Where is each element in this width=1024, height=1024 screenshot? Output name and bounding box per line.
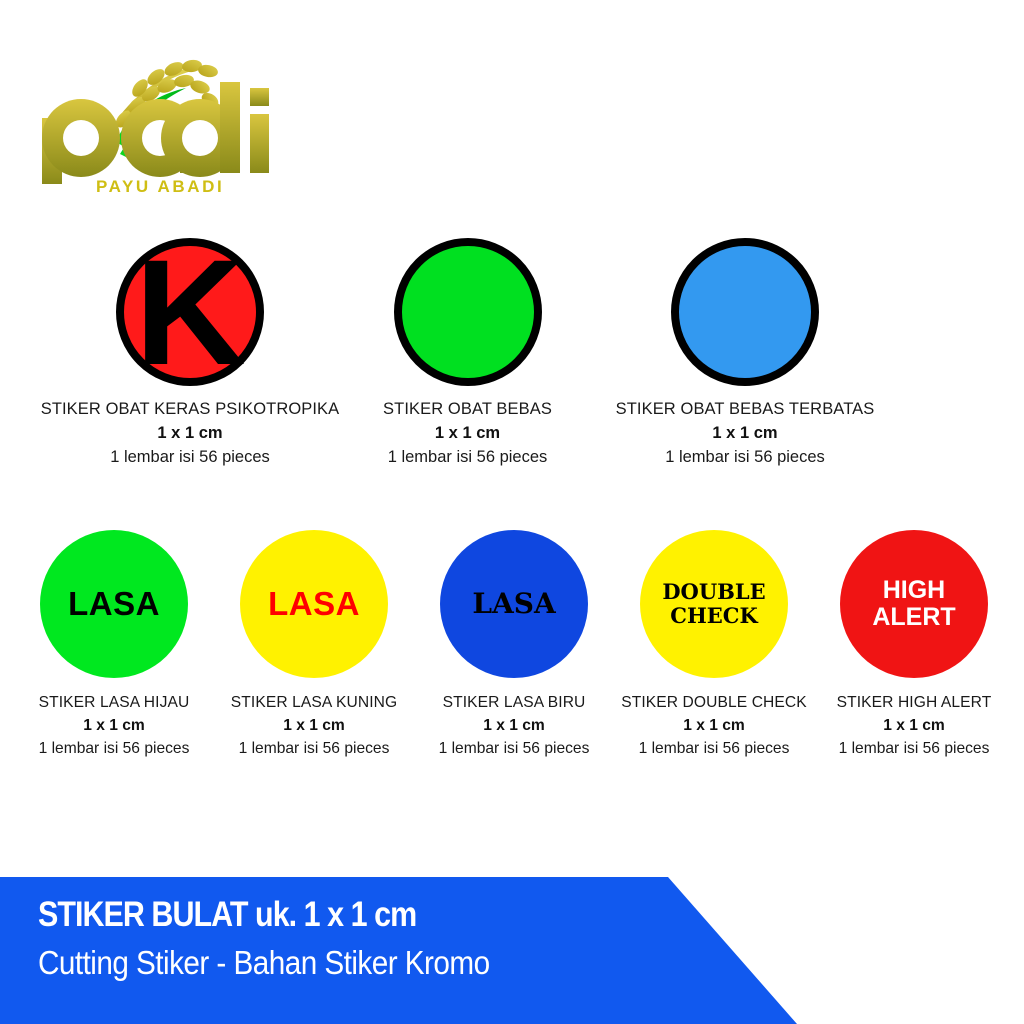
- sticker-disc-lasa-hijau[interactable]: LASA: [40, 530, 188, 678]
- sticker-size: 1 x 1 cm: [616, 424, 875, 443]
- banner-text-block: STIKER BULAT uk. 1 x 1 cm Cutting Stiker…: [38, 895, 540, 982]
- sticker-label: LASA: [268, 587, 360, 621]
- sticker-label-line2: CHECK: [670, 603, 758, 628]
- sticker-card-lasa-hijau[interactable]: LASA STIKER LASA HIJAU 1 x 1 cm 1 lembar…: [14, 530, 214, 758]
- sticker-card-obat-bebas[interactable]: STIKER OBAT BEBAS 1 x 1 cm 1 lembar isi …: [340, 238, 595, 467]
- sticker-size: 1 x 1 cm: [39, 717, 190, 735]
- sticker-disc-lasa-biru[interactable]: LASA: [440, 530, 588, 678]
- sticker-quantity: 1 lembar isi 56 pieces: [231, 740, 397, 758]
- sticker-row-2: LASA STIKER LASA HIJAU 1 x 1 cm 1 lembar…: [14, 530, 1014, 758]
- sticker-quantity: 1 lembar isi 56 pieces: [621, 740, 807, 758]
- sticker-size: 1 x 1 cm: [837, 717, 992, 735]
- brand-tagline: PAYU ABADI: [96, 177, 224, 196]
- banner-subtitle: Cutting Stiker - Bahan Stiker Kromo: [38, 944, 490, 982]
- bottom-banner: STIKER BULAT uk. 1 x 1 cm Cutting Stiker…: [0, 877, 800, 1024]
- sticker-name: STIKER HIGH ALERT: [837, 694, 992, 712]
- sticker-card-obat-bebas-terbatas[interactable]: STIKER OBAT BEBAS TERBATAS 1 x 1 cm 1 le…: [595, 238, 895, 467]
- sticker-catalog-page: { "brand": { "name": "padi", "tagline": …: [0, 0, 1024, 1024]
- sticker-name: STIKER OBAT BEBAS: [383, 400, 552, 419]
- sticker-name: STIKER DOUBLE CHECK: [621, 694, 807, 712]
- sticker-caption: STIKER LASA HIJAU 1 x 1 cm 1 lembar isi …: [39, 694, 190, 758]
- sticker-card-lasa-kuning[interactable]: LASA STIKER LASA KUNING 1 x 1 cm 1 lemba…: [214, 530, 414, 758]
- sticker-caption: STIKER LASA KUNING 1 x 1 cm 1 lembar isi…: [231, 694, 397, 758]
- sticker-quantity: 1 lembar isi 56 pieces: [439, 740, 590, 758]
- sticker-name: STIKER LASA KUNING: [231, 694, 397, 712]
- sticker-disc-lasa-kuning[interactable]: LASA: [240, 530, 388, 678]
- sticker-name: STIKER LASA BIRU: [439, 694, 590, 712]
- sticker-caption: STIKER HIGH ALERT 1 x 1 cm 1 lembar isi …: [837, 694, 992, 758]
- sticker-quantity: 1 lembar isi 56 pieces: [616, 448, 875, 467]
- sticker-label: HIGH ALERT: [872, 577, 955, 632]
- sticker-size: 1 x 1 cm: [231, 717, 397, 735]
- sticker-label: DOUBLE CHECK: [662, 580, 765, 627]
- sticker-name: STIKER OBAT KERAS PSIKOTROPIKA: [41, 400, 340, 419]
- sticker-row-1: K STIKER OBAT KERAS PSIKOTROPIKA 1 x 1 c…: [40, 238, 1000, 467]
- sticker-size: 1 x 1 cm: [41, 424, 340, 443]
- wheat-ear-icon: PAYU ABADI: [28, 42, 278, 202]
- sticker-name: STIKER OBAT BEBAS TERBATAS: [616, 400, 875, 419]
- sticker-disc-high-alert[interactable]: HIGH ALERT: [840, 530, 988, 678]
- sticker-card-lasa-biru[interactable]: LASA STIKER LASA BIRU 1 x 1 cm 1 lembar …: [414, 530, 614, 758]
- sticker-card-double-check[interactable]: DOUBLE CHECK STIKER DOUBLE CHECK 1 x 1 c…: [614, 530, 814, 758]
- sticker-size: 1 x 1 cm: [621, 717, 807, 735]
- sticker-glyph-k: K: [135, 237, 245, 387]
- sticker-disc-double-check[interactable]: DOUBLE CHECK: [640, 530, 788, 678]
- sticker-quantity: 1 lembar isi 56 pieces: [837, 740, 992, 758]
- sticker-label-line2: ALERT: [872, 603, 955, 631]
- sticker-quantity: 1 lembar isi 56 pieces: [41, 448, 340, 467]
- sticker-disc-obat-keras-psikotropika[interactable]: K: [116, 238, 264, 386]
- sticker-label: LASA: [68, 587, 160, 621]
- sticker-size: 1 x 1 cm: [439, 717, 590, 735]
- sticker-size: 1 x 1 cm: [383, 424, 552, 443]
- banner-title: STIKER BULAT uk. 1 x 1 cm: [38, 895, 474, 935]
- sticker-label: LASA: [472, 589, 555, 618]
- sticker-caption: STIKER OBAT KERAS PSIKOTROPIKA 1 x 1 cm …: [41, 400, 340, 467]
- sticker-disc-obat-bebas-terbatas[interactable]: [671, 238, 819, 386]
- sticker-caption: STIKER DOUBLE CHECK 1 x 1 cm 1 lembar is…: [621, 694, 807, 758]
- sticker-quantity: 1 lembar isi 56 pieces: [39, 740, 190, 758]
- sticker-card-obat-keras-psikotropika[interactable]: K STIKER OBAT KERAS PSIKOTROPIKA 1 x 1 c…: [40, 238, 340, 467]
- sticker-quantity: 1 lembar isi 56 pieces: [383, 448, 552, 467]
- sticker-caption: STIKER OBAT BEBAS 1 x 1 cm 1 lembar isi …: [383, 400, 552, 467]
- sticker-caption: STIKER LASA BIRU 1 x 1 cm 1 lembar isi 5…: [439, 694, 590, 758]
- sticker-disc-obat-bebas[interactable]: [394, 238, 542, 386]
- sticker-label-line1: HIGH: [883, 576, 946, 604]
- sticker-card-high-alert[interactable]: HIGH ALERT STIKER HIGH ALERT 1 x 1 cm 1 …: [814, 530, 1014, 758]
- sticker-label-line1: DOUBLE: [662, 579, 765, 604]
- sticker-caption: STIKER OBAT BEBAS TERBATAS 1 x 1 cm 1 le…: [616, 400, 875, 467]
- sticker-name: STIKER LASA HIJAU: [39, 694, 190, 712]
- brand-logo: PAYU ABADI: [28, 42, 278, 202]
